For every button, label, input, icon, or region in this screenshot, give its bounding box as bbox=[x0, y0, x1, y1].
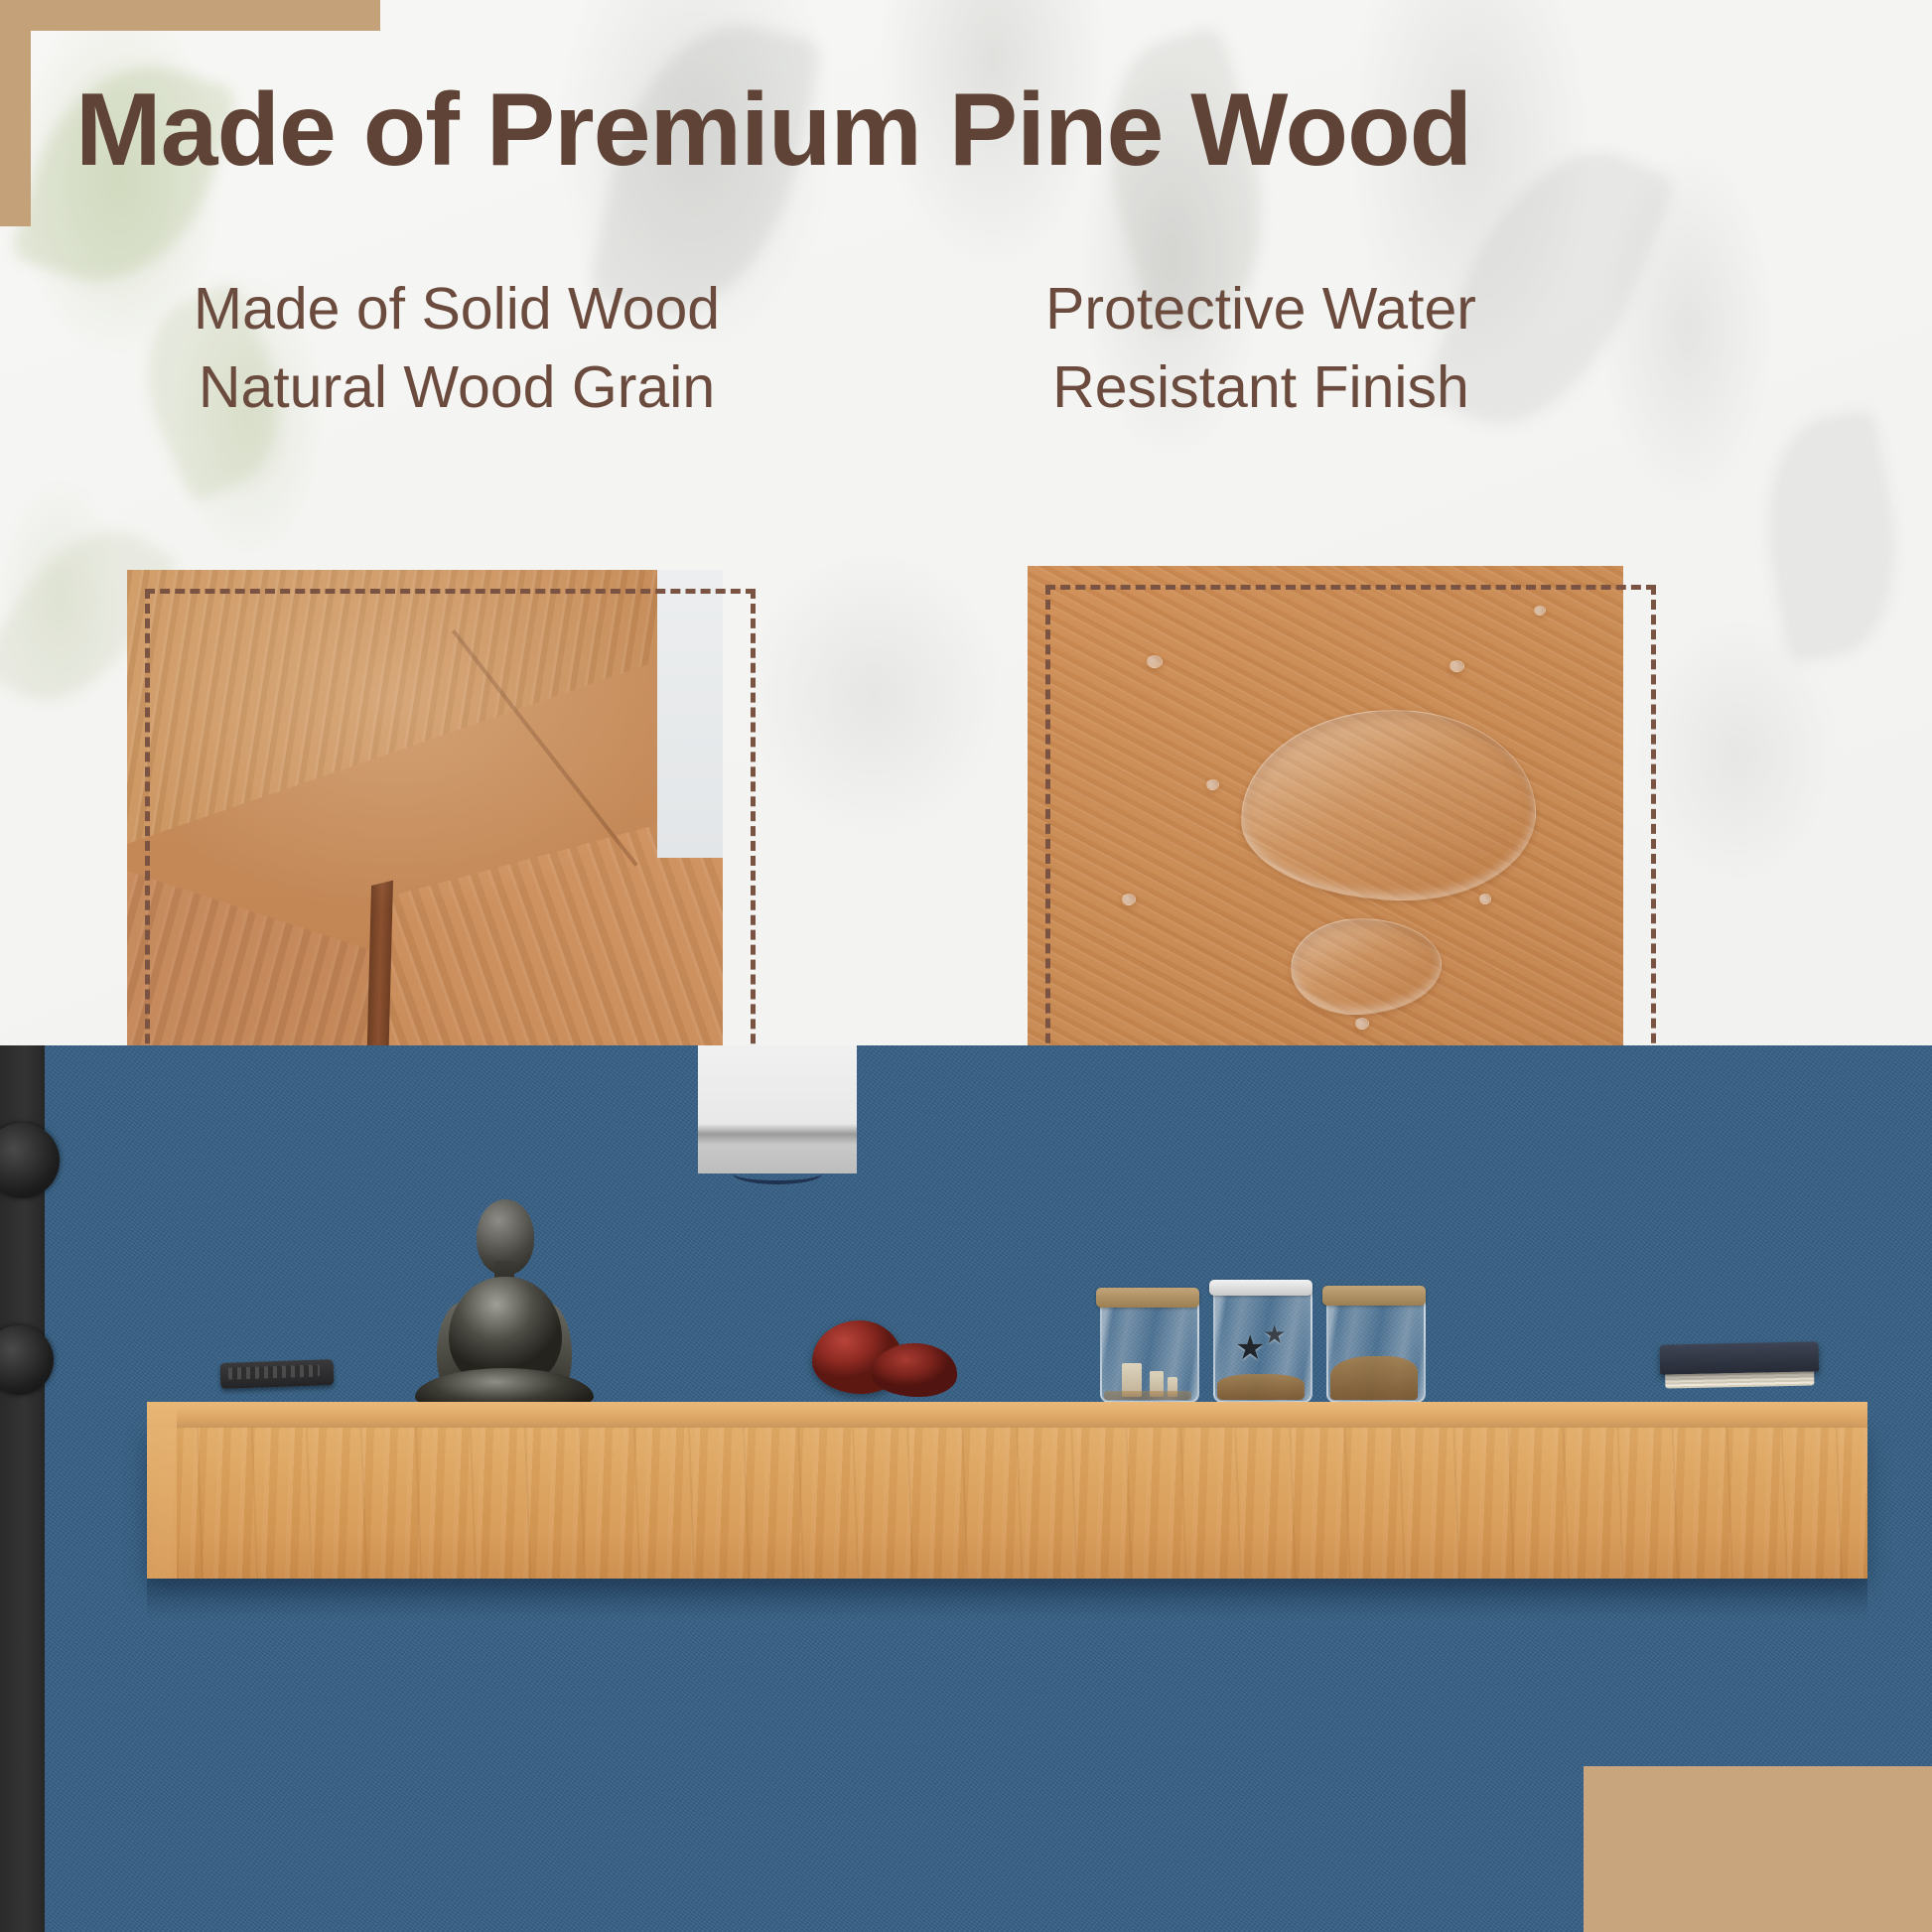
water-droplet-small bbox=[1449, 660, 1464, 672]
book bbox=[1660, 1341, 1820, 1390]
tv-edge bbox=[698, 1045, 857, 1173]
shelf-end-cap bbox=[147, 1402, 177, 1579]
glass-jar-sand bbox=[1326, 1300, 1422, 1403]
water-droplet-small bbox=[1206, 779, 1219, 790]
feature-caption-right-line1: Protective Water bbox=[874, 270, 1648, 348]
shelf-top-surface bbox=[147, 1402, 1867, 1428]
water-bead-image bbox=[1028, 566, 1623, 1082]
corner-accent-bottom-right bbox=[1584, 1766, 1932, 1932]
page-title: Made of Premium Pine Wood bbox=[75, 76, 1863, 185]
feature-caption-left-line2: Natural Wood Grain bbox=[69, 348, 844, 427]
jar-contents bbox=[1217, 1374, 1305, 1400]
water-droplet-small bbox=[1122, 894, 1136, 905]
shelf-drop-shadow bbox=[147, 1579, 1867, 1620]
star-ornament-icon: ★ bbox=[1235, 1331, 1265, 1365]
jar-contents bbox=[1330, 1356, 1418, 1400]
remote-buttons bbox=[228, 1365, 320, 1380]
feature-caption-left: Made of Solid Wood Natural Wood Grain bbox=[69, 270, 844, 427]
book-cover bbox=[1660, 1341, 1820, 1374]
shelf-front-face bbox=[147, 1428, 1867, 1579]
detail-photo-wood-grain bbox=[127, 570, 723, 1082]
water-droplet-small bbox=[1479, 894, 1491, 904]
feature-caption-right: Protective Water Resistant Finish bbox=[874, 270, 1648, 427]
feature-caption-right-line2: Resistant Finish bbox=[874, 348, 1648, 427]
jar-rope-lid bbox=[1322, 1286, 1426, 1306]
remote-control bbox=[220, 1359, 335, 1389]
tv-cable bbox=[733, 1163, 822, 1184]
water-droplet-small bbox=[1355, 1018, 1369, 1030]
glass-jar-stars: ★ ★ bbox=[1213, 1292, 1309, 1403]
water-droplet-large bbox=[1241, 710, 1536, 900]
glass-jar-candles bbox=[1100, 1302, 1195, 1403]
feature-caption-left-line1: Made of Solid Wood bbox=[69, 270, 844, 348]
red-pebble-ornament-secondary bbox=[872, 1343, 957, 1397]
product-infographic: Made of Premium Pine Wood Made of Solid … bbox=[0, 0, 1932, 1932]
leaf-shadow-icon bbox=[1747, 408, 1916, 665]
floating-wall-shelf bbox=[147, 1402, 1867, 1579]
water-droplet-medium bbox=[1291, 918, 1442, 1015]
water-droplet-small bbox=[1534, 606, 1546, 616]
corner-accent-top bbox=[0, 0, 380, 31]
wood-corner-image bbox=[127, 570, 723, 1082]
jar-contents bbox=[1104, 1391, 1191, 1400]
water-droplet-small bbox=[1147, 655, 1163, 668]
corner-accent-left bbox=[0, 0, 31, 226]
jar-rope-lid bbox=[1096, 1288, 1199, 1308]
buddha-figurine bbox=[415, 1199, 594, 1406]
dark-side-panel bbox=[0, 1045, 45, 1932]
star-ornament-icon: ★ bbox=[1263, 1321, 1286, 1347]
detail-photo-water-resistant bbox=[1028, 566, 1623, 1082]
jar-metal-lid bbox=[1209, 1280, 1312, 1296]
